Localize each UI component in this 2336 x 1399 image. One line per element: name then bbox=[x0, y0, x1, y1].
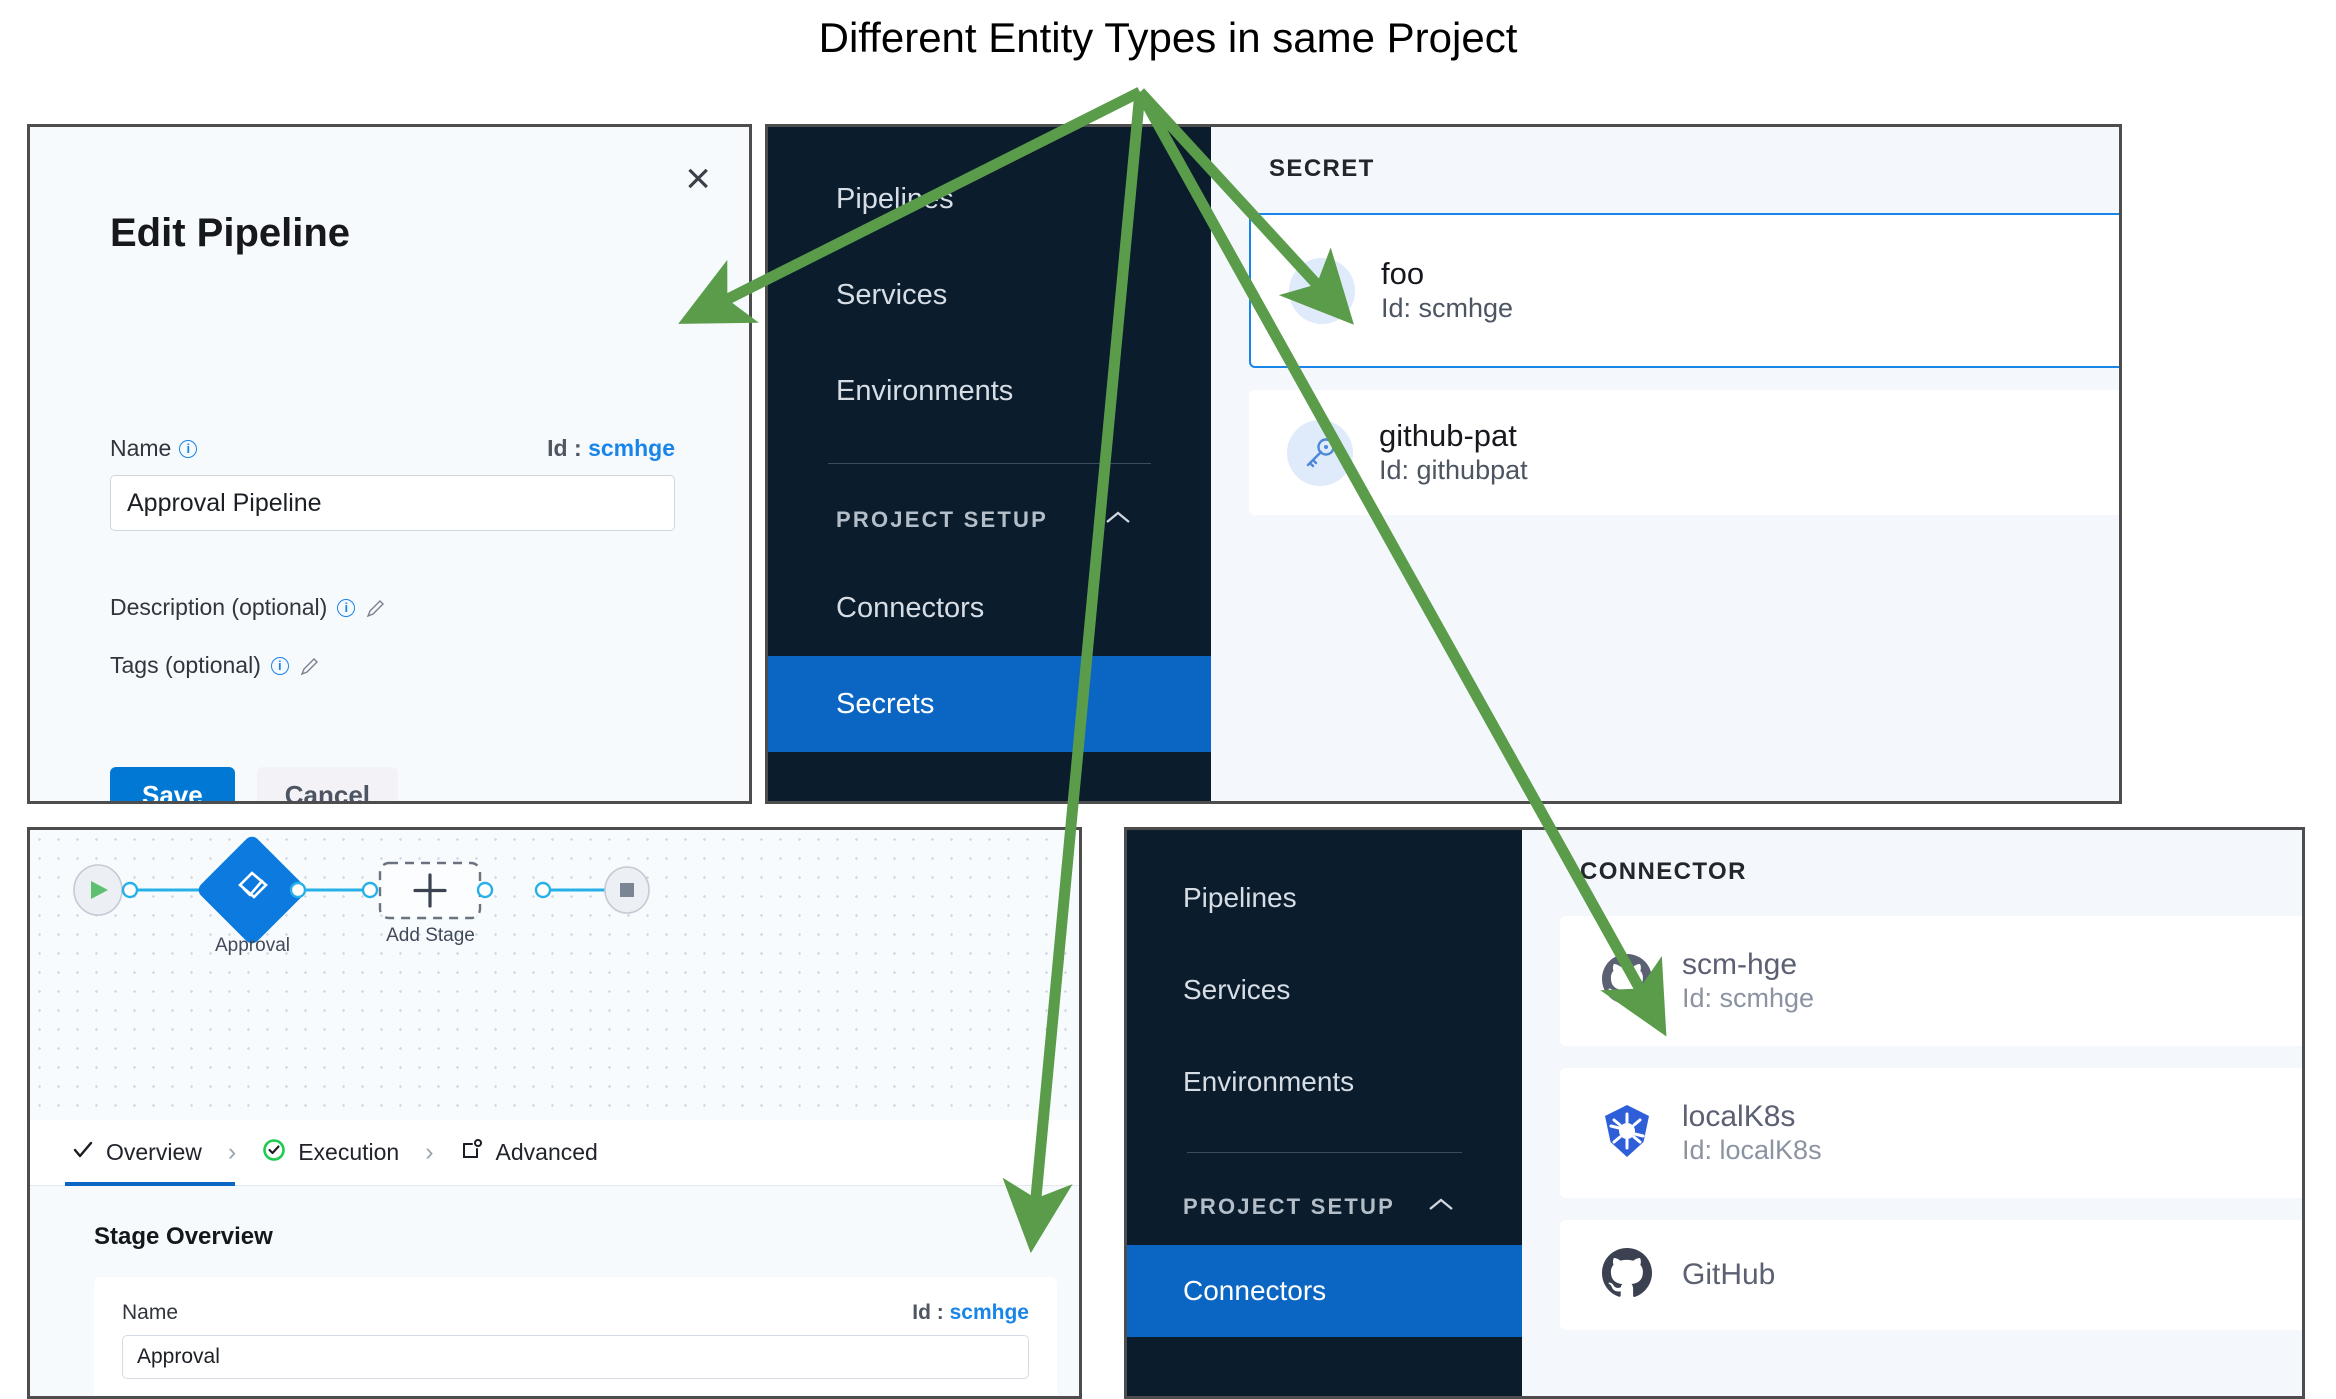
stage-name-input[interactable]: Approval bbox=[122, 1335, 1029, 1379]
add-stage-label[interactable]: Add Stage bbox=[378, 925, 483, 947]
secret-name: foo bbox=[1381, 256, 1513, 293]
secret-item-text: github-pat Id: githubpat bbox=[1379, 418, 1528, 486]
sidebar-item-label: Pipelines bbox=[1183, 882, 1297, 914]
connector-item-text: localK8s Id: localK8s bbox=[1682, 1099, 1822, 1166]
key-icon bbox=[1287, 420, 1353, 486]
stage-id: Id : scmhge bbox=[912, 1301, 1029, 1325]
secrets-list-body: SECRET foo Id: scmhge bbox=[1211, 127, 2119, 801]
connector-list-item-scm-hge[interactable]: scm-hge Id: scmhge bbox=[1560, 916, 2305, 1046]
secret-name: github-pat bbox=[1379, 418, 1528, 455]
secret-id: Id: githubpat bbox=[1379, 455, 1528, 487]
tab-separator: › bbox=[425, 1138, 433, 1167]
info-icon[interactable]: i bbox=[337, 599, 355, 617]
save-button[interactable]: Save bbox=[110, 767, 235, 804]
info-icon[interactable]: i bbox=[271, 657, 289, 675]
sidebar-item-environments[interactable]: Environments bbox=[1127, 1036, 1522, 1128]
stage-name-header: Name Id : scmhge bbox=[122, 1301, 1029, 1325]
connector-name: GitHub bbox=[1682, 1257, 1775, 1292]
entity-type-header: CONNECTOR bbox=[1522, 830, 2302, 886]
connector-name: scm-hge bbox=[1682, 947, 1814, 982]
github-icon bbox=[1598, 1244, 1656, 1307]
pencil-icon[interactable] bbox=[299, 656, 319, 676]
tab-execution[interactable]: Execution bbox=[262, 1138, 399, 1168]
sidebar-nav-secrets: Pipelines Services Environments PROJECT … bbox=[768, 127, 1211, 801]
sidebar-item-label: Secrets bbox=[836, 688, 934, 721]
studio-tabs: Overview › Execution › Advanced bbox=[30, 1120, 1079, 1186]
sidebar-section-label: PROJECT SETUP bbox=[1183, 1194, 1395, 1220]
tab-label: Execution bbox=[298, 1139, 399, 1166]
check-icon bbox=[72, 1139, 94, 1166]
stage-overview-title: Stage Overview bbox=[30, 1187, 1079, 1251]
name-label: Name i bbox=[110, 435, 197, 462]
sidebar-item-connectors[interactable]: Connectors bbox=[768, 560, 1211, 656]
tab-label: Overview bbox=[106, 1139, 202, 1166]
sidebar-item-services[interactable]: Services bbox=[1127, 944, 1522, 1036]
tab-separator: › bbox=[228, 1138, 236, 1167]
sidebar-section-project-setup[interactable]: PROJECT SETUP bbox=[1127, 1169, 1522, 1245]
pipeline-canvas[interactable]: Approval Add Stage bbox=[30, 830, 1079, 1120]
stage-overview-body: Stage Overview Name Id : scmhge Approval bbox=[30, 1187, 1079, 1396]
secret-item-text: foo Id: scmhge bbox=[1381, 256, 1513, 324]
sidebar-item-pipelines[interactable]: Pipelines bbox=[1127, 852, 1522, 944]
id-prefix: Id : bbox=[547, 435, 582, 461]
secret-list-item-github-pat[interactable]: github-pat Id: githubpat bbox=[1249, 390, 2122, 515]
tab-overview[interactable]: Overview bbox=[72, 1139, 202, 1166]
description-label: Description (optional) bbox=[110, 594, 327, 621]
page-title-edit-pipeline: Edit Pipeline bbox=[110, 211, 350, 256]
pipeline-studio-panel: Approval Add Stage Overview › Execution … bbox=[27, 827, 1082, 1399]
sidebar-section-project-setup[interactable]: PROJECT SETUP bbox=[768, 480, 1211, 560]
check-circle-icon bbox=[262, 1138, 286, 1168]
connector-list-item-github[interactable]: GitHub bbox=[1560, 1220, 2305, 1330]
description-field-row: Description (optional) i bbox=[110, 594, 385, 621]
connectors-list-body: CONNECTOR scm-hge Id: scmhge bbox=[1522, 830, 2302, 1396]
close-icon[interactable]: × bbox=[685, 157, 711, 201]
kubernetes-icon bbox=[1598, 1102, 1656, 1165]
name-field-header: Name i Id : scmhge bbox=[110, 435, 675, 462]
page-title: Different Entity Types in same Project bbox=[0, 14, 2336, 62]
entity-type-header: SECRET bbox=[1211, 127, 2119, 183]
sidebar-item-services[interactable]: Services bbox=[768, 247, 1211, 343]
tab-label: Advanced bbox=[496, 1139, 598, 1166]
sidebar-item-label: Services bbox=[1183, 974, 1290, 1006]
pencil-icon[interactable] bbox=[365, 598, 385, 618]
tags-field-row: Tags (optional) i bbox=[110, 652, 319, 679]
id-value[interactable]: scmhge bbox=[950, 1301, 1029, 1324]
secret-list-item-foo[interactable]: foo Id: scmhge bbox=[1249, 213, 2122, 368]
sidebar-item-label: Connectors bbox=[836, 592, 984, 625]
sidebar-section-label: PROJECT SETUP bbox=[836, 507, 1048, 533]
sidebar-item-environments[interactable]: Environments bbox=[768, 343, 1211, 439]
tags-label: Tags (optional) bbox=[110, 652, 261, 679]
stage-overview-card: Name Id : scmhge Approval bbox=[94, 1277, 1057, 1399]
github-icon bbox=[1598, 950, 1656, 1013]
connector-name: localK8s bbox=[1682, 1099, 1822, 1134]
cancel-button[interactable]: Cancel bbox=[257, 767, 398, 804]
connector-id: Id: localK8s bbox=[1682, 1135, 1822, 1167]
sidebar-item-connectors[interactable]: Connectors bbox=[1127, 1245, 1522, 1337]
chevron-up-icon bbox=[1103, 506, 1133, 534]
connector-id: Id: scmhge bbox=[1682, 983, 1814, 1015]
info-icon[interactable]: i bbox=[179, 440, 197, 458]
sidebar-item-label: Services bbox=[836, 279, 947, 312]
secret-id: Id: scmhge bbox=[1381, 293, 1513, 325]
pipeline-name-input[interactable]: Approval Pipeline bbox=[110, 475, 675, 531]
id-prefix: Id : bbox=[912, 1301, 944, 1324]
chevron-up-icon bbox=[1426, 1193, 1456, 1221]
edit-pipeline-panel: × Edit Pipeline Name i Id : scmhge Appro… bbox=[27, 124, 752, 804]
sidebar-item-label: Environments bbox=[1183, 1066, 1354, 1098]
sidebar-item-label: Connectors bbox=[1183, 1275, 1326, 1307]
connector-item-text: scm-hge Id: scmhge bbox=[1682, 947, 1814, 1014]
connector-list-item-localk8s[interactable]: localK8s Id: localK8s bbox=[1560, 1068, 2305, 1198]
connectors-screen-panel: Pipelines Services Environments PROJECT … bbox=[1124, 827, 2305, 1399]
sidebar-item-secrets[interactable]: Secrets bbox=[768, 656, 1211, 752]
secrets-screen-panel: Pipelines Services Environments PROJECT … bbox=[765, 124, 2122, 804]
connector-item-text: GitHub bbox=[1682, 1257, 1775, 1292]
advanced-icon bbox=[460, 1138, 484, 1168]
sidebar-divider bbox=[828, 463, 1151, 464]
tab-advanced[interactable]: Advanced bbox=[460, 1138, 598, 1168]
stage-node-label: Approval bbox=[205, 935, 300, 957]
stage-name-label: Name bbox=[122, 1301, 178, 1325]
sidebar-item-label: Pipelines bbox=[836, 183, 954, 216]
sidebar-item-pipelines[interactable]: Pipelines bbox=[768, 151, 1211, 247]
modal-actions: Save Cancel bbox=[110, 767, 398, 804]
key-icon bbox=[1289, 258, 1355, 324]
active-tab-underline bbox=[65, 1182, 235, 1186]
screenshot-root: Different Entity Types in same Project ×… bbox=[0, 0, 2336, 1399]
pipeline-id: Id : scmhge bbox=[547, 435, 675, 462]
name-label-text: Name bbox=[110, 435, 171, 462]
sidebar-divider bbox=[1187, 1152, 1462, 1153]
sidebar-nav-connectors: Pipelines Services Environments PROJECT … bbox=[1127, 830, 1522, 1396]
sidebar-item-label: Environments bbox=[836, 375, 1013, 408]
id-value[interactable]: scmhge bbox=[588, 435, 675, 461]
